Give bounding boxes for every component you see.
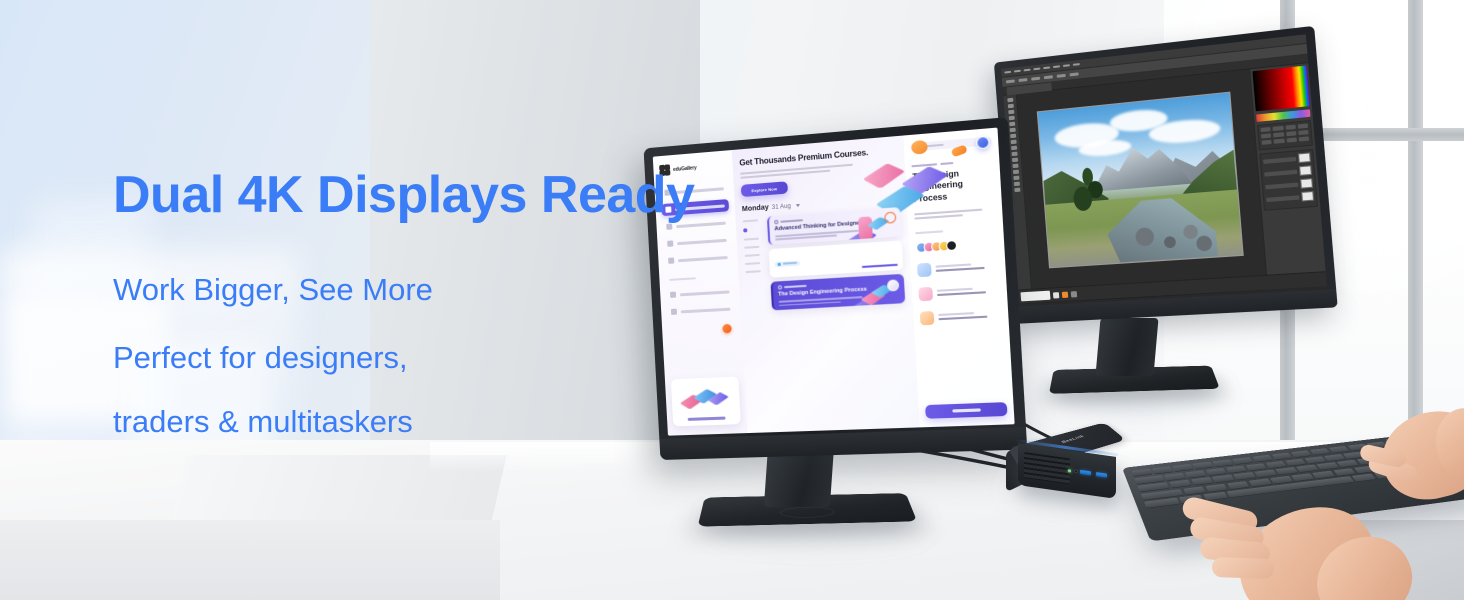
- calendar-icon: [917, 262, 932, 276]
- iso-sphere: [912, 140, 929, 155]
- layer-item[interactable]: [1265, 178, 1313, 191]
- status-field: [1020, 291, 1050, 302]
- subline-1: Work Bigger, See More: [113, 273, 713, 307]
- color-picker-panel[interactable]: [1252, 66, 1309, 112]
- audio-jack-port[interactable]: [1074, 469, 1078, 474]
- meta-text: [939, 311, 1002, 320]
- power-led: [1068, 469, 1071, 472]
- event-tag: [774, 260, 800, 267]
- brand-logo: BeeLink: [1061, 435, 1085, 445]
- desk-front-face: [0, 520, 500, 600]
- event-card[interactable]: [768, 240, 904, 278]
- notification-badge[interactable]: [722, 324, 732, 334]
- finger: [1212, 557, 1275, 579]
- landscape-photo: [1037, 92, 1243, 268]
- detail-meta-row: [920, 307, 1002, 325]
- participant-avatars: [916, 237, 998, 253]
- event-card[interactable]: The Design Engineering Process: [770, 274, 906, 310]
- hand-on-keyboard: [1176, 486, 1406, 600]
- photo-editor-screen[interactable]: [1001, 34, 1327, 303]
- status-icon: [1062, 291, 1068, 297]
- secondary-monitor-neck: [1095, 318, 1158, 376]
- clock-icon: [919, 287, 934, 301]
- secondary-monitor: [1004, 62, 1314, 324]
- iso-pill: [950, 145, 967, 158]
- layer-item[interactable]: [1264, 165, 1312, 179]
- clock-icon: [774, 220, 778, 224]
- meta-text: [937, 287, 1000, 296]
- schedule-day: Monday: [742, 204, 769, 213]
- cta-label: Explore Now: [751, 186, 777, 193]
- marketing-copy: Dual 4K Displays Ready Work Bigger, See …: [113, 168, 713, 439]
- status-icon: [1071, 291, 1077, 297]
- detail-meta-row: [917, 258, 999, 277]
- page-title: Dual 4K Displays Ready: [113, 168, 713, 223]
- photo-trees: [1068, 159, 1113, 215]
- iso-block: [862, 163, 904, 188]
- video-icon: [920, 311, 935, 325]
- clock-icon: [778, 286, 782, 290]
- tag-icon: [777, 263, 780, 266]
- secondary-monitor-bezel: [994, 26, 1338, 324]
- product-banner: Dual 4K Displays Ready Work Bigger, See …: [0, 0, 1464, 600]
- status-icon: [1053, 292, 1059, 298]
- usb-port[interactable]: [1096, 472, 1107, 478]
- base-ring: [780, 506, 835, 518]
- photo-rocks: [1126, 217, 1218, 258]
- meta-text: [936, 262, 999, 272]
- layer-item[interactable]: [1263, 152, 1311, 166]
- vent-grille: [1024, 452, 1070, 484]
- chevron-down-icon[interactable]: [796, 204, 800, 207]
- join-now-button[interactable]: [926, 402, 1008, 419]
- subline-3: traders & multitaskers: [113, 405, 713, 439]
- dashboard-main: Get Thousands Premium Courses. Explore N…: [732, 135, 921, 433]
- editor-canvas[interactable]: [1017, 69, 1266, 288]
- detail-meta-row: [919, 283, 1001, 301]
- layer-item[interactable]: [1266, 191, 1314, 204]
- layers-panel[interactable]: [1259, 149, 1318, 211]
- explore-now-button[interactable]: Explore Now: [741, 181, 788, 197]
- usb-port[interactable]: [1080, 470, 1091, 476]
- avatar-more[interactable]: [946, 240, 957, 251]
- schedule-date: 31 Aug: [772, 204, 791, 212]
- window-mullion-vertical: [1408, 0, 1423, 470]
- subline-2: Perfect for designers,: [113, 341, 713, 375]
- adjustments-panel[interactable]: [1257, 120, 1313, 150]
